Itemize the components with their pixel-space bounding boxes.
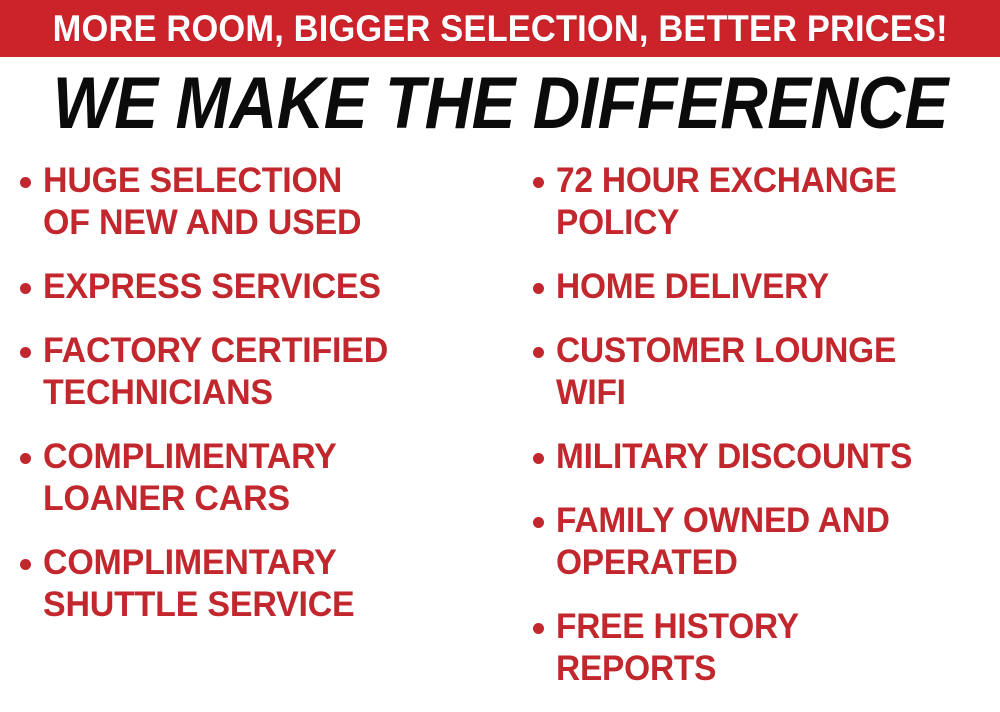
bullet-dot-icon <box>20 453 31 464</box>
headline-text: WE MAKE THE DIFFERENCE <box>52 66 947 142</box>
list-item-label: COMPLIMENTARY SHUTTLE SERVICE <box>43 542 355 626</box>
bullet-dot-icon <box>533 517 544 528</box>
list-item-label: CUSTOMER LOUNGE WIFI <box>556 330 896 414</box>
top-promo-banner-text: MORE ROOM, BIGGER SELECTION, BETTER PRIC… <box>52 10 947 47</box>
features-columns: HUGE SELECTION OF NEW AND USED EXPRESS S… <box>0 160 1000 694</box>
list-item-label: FAMILY OWNED AND OPERATED <box>556 500 890 584</box>
list-item: MILITARY DISCOUNTS <box>533 436 1000 478</box>
list-item-label: FACTORY CERTIFIED TECHNICIANS <box>43 330 388 414</box>
list-item: CUSTOMER LOUNGE WIFI <box>533 330 1000 414</box>
list-item: FREE HISTORY REPORTS <box>533 606 1000 690</box>
bullet-dot-icon <box>20 559 31 570</box>
list-item: FACTORY CERTIFIED TECHNICIANS <box>20 330 508 414</box>
list-item-label: MILITARY DISCOUNTS <box>556 436 912 478</box>
list-item: FAMILY OWNED AND OPERATED <box>533 500 1000 584</box>
headline: WE MAKE THE DIFFERENCE <box>0 66 1000 142</box>
bullet-dot-icon <box>533 347 544 358</box>
list-item: HUGE SELECTION OF NEW AND USED <box>20 160 508 244</box>
list-item-label: FREE HISTORY REPORTS <box>556 606 799 690</box>
list-item-label: 72 HOUR EXCHANGE POLICY <box>556 160 897 244</box>
list-item: HOME DELIVERY <box>533 266 1000 308</box>
bullet-dot-icon <box>533 623 544 634</box>
bullet-dot-icon <box>20 283 31 294</box>
list-item-label: HOME DELIVERY <box>556 266 829 308</box>
list-item-label: EXPRESS SERVICES <box>43 266 381 308</box>
features-column-right: 72 HOUR EXCHANGE POLICY HOME DELIVERY CU… <box>508 160 1000 712</box>
bullet-dot-icon <box>533 177 544 188</box>
list-item-label: COMPLIMENTARY LOANER CARS <box>43 436 337 520</box>
bullet-dot-icon <box>533 453 544 464</box>
bullet-dot-icon <box>20 177 31 188</box>
list-item: COMPLIMENTARY SHUTTLE SERVICE <box>20 542 508 626</box>
list-item-label: HUGE SELECTION OF NEW AND USED <box>43 160 361 244</box>
advertisement-banner: MORE ROOM, BIGGER SELECTION, BETTER PRIC… <box>0 0 1000 694</box>
list-item: COMPLIMENTARY LOANER CARS <box>20 436 508 520</box>
bullet-dot-icon <box>20 347 31 358</box>
top-promo-banner: MORE ROOM, BIGGER SELECTION, BETTER PRIC… <box>0 0 1000 57</box>
list-item: 72 HOUR EXCHANGE POLICY <box>533 160 1000 244</box>
list-item: EXPRESS SERVICES <box>20 266 508 308</box>
features-column-left: HUGE SELECTION OF NEW AND USED EXPRESS S… <box>0 160 508 648</box>
bullet-dot-icon <box>533 283 544 294</box>
